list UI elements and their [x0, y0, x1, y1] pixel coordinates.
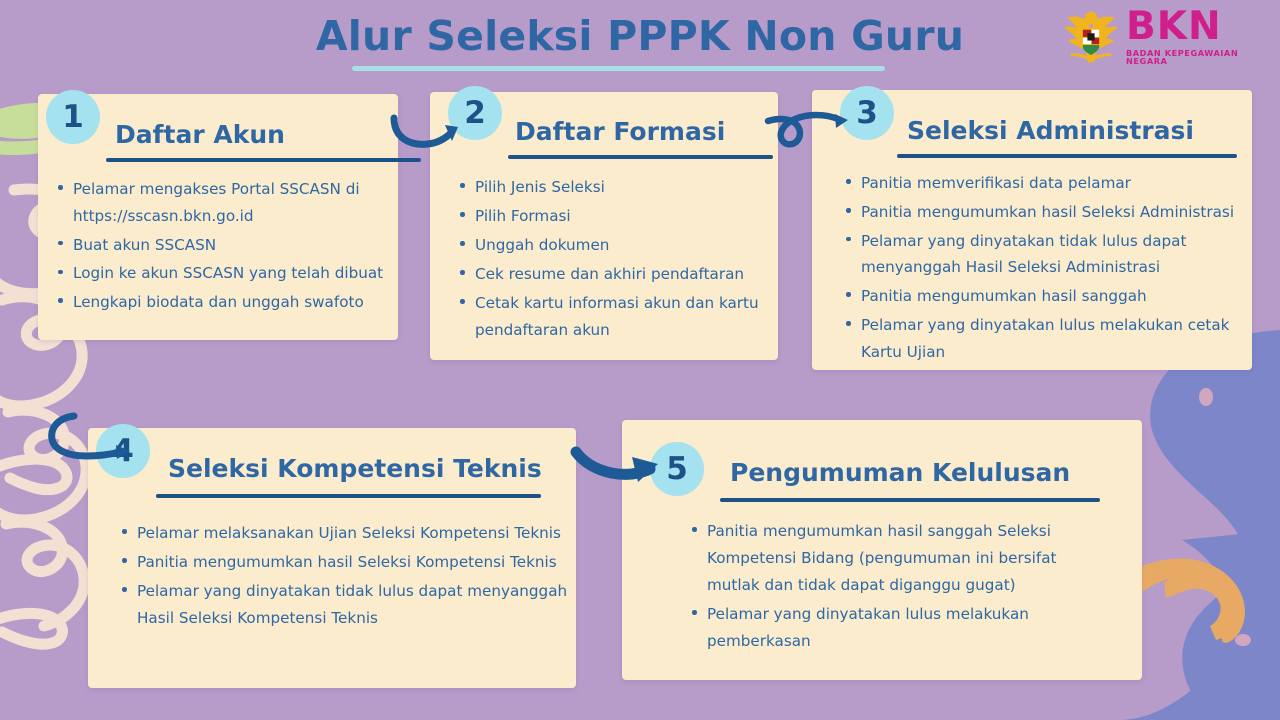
- step-card-2-header: 2 Daftar Formasi: [430, 92, 778, 150]
- step-card-5: 5 Pengumuman Kelulusan Panitia mengumumk…: [622, 420, 1142, 680]
- step-number-badge-4: 4: [96, 424, 150, 478]
- orange-ribbon-tail-decoration: [1164, 573, 1236, 640]
- list-item: Login ke akun SSCASN yang telah dibuat: [56, 260, 396, 287]
- list-item: Unggah dokumen: [458, 232, 776, 259]
- step-header-rule-4: [156, 494, 541, 498]
- step-title-3: Seleksi Administrasi: [907, 116, 1194, 145]
- logo-subtitle: BADAN KEPEGAWAIAN NEGARA: [1126, 49, 1268, 65]
- blue-blob-lower-decoration: [1122, 530, 1280, 720]
- list-item: Panitia mengumumkan hasil sanggah Seleks…: [690, 518, 1110, 599]
- step-number-badge-5: 5: [650, 442, 704, 496]
- list-item: Panitia mengumumkan hasil Seleksi Kompet…: [120, 549, 570, 576]
- pink-fleck-2-decoration: [1235, 634, 1251, 646]
- list-item: Pelamar melaksanakan Ujian Seleksi Kompe…: [120, 520, 570, 547]
- step-header-rule-1: [106, 158, 421, 162]
- step-title-2: Daftar Formasi: [515, 117, 725, 146]
- list-item: Lengkapi biodata dan unggah swafoto: [56, 289, 396, 316]
- step-card-2: 2 Daftar Formasi Pilih Jenis Seleksi Pil…: [430, 92, 778, 360]
- step-title-4: Seleksi Kompetensi Teknis: [168, 454, 542, 483]
- list-item: Buat akun SSCASN: [56, 232, 396, 259]
- garuda-pancasila-icon: [1062, 8, 1120, 64]
- list-item: Pelamar yang dinyatakan tidak lulus dapa…: [120, 578, 570, 632]
- step-number-badge-3: 3: [840, 86, 894, 140]
- pink-fleck-decoration: [1199, 388, 1213, 406]
- step-bullet-list-3: Panitia memverifikasi data pelamar Panit…: [844, 170, 1254, 367]
- step-title-1: Daftar Akun: [115, 120, 285, 149]
- step-title-5: Pengumuman Kelulusan: [730, 458, 1070, 487]
- list-item: Pelamar yang dinyatakan tidak lulus dapa…: [844, 228, 1254, 282]
- step-header-rule-2: [508, 155, 773, 159]
- step-header-rule-3: [897, 154, 1237, 158]
- step-card-1-header: 1 Daftar Akun: [38, 94, 398, 152]
- list-item: Panitia memverifikasi data pelamar: [844, 170, 1254, 197]
- title-underline: [352, 66, 885, 71]
- step-bullet-list-2: Pilih Jenis Seleksi Pilih Formasi Unggah…: [458, 174, 776, 345]
- list-item: Pilih Jenis Seleksi: [458, 174, 776, 201]
- step-card-5-header: 5 Pengumuman Kelulusan: [622, 420, 1142, 478]
- step-header-rule-5: [720, 498, 1100, 502]
- list-item: Cetak kartu informasi akun dan kartu pen…: [458, 290, 776, 344]
- step-card-3-header: 3 Seleksi Administrasi: [812, 90, 1252, 148]
- step-number-badge-1: 1: [46, 90, 100, 144]
- list-item: Pelamar yang dinyatakan lulus melakukan …: [844, 312, 1254, 366]
- list-item: Pelamar mengakses Portal SSCASN di https…: [56, 176, 396, 230]
- step-card-1: 1 Daftar Akun Pelamar mengakses Portal S…: [38, 94, 398, 340]
- step-card-3: 3 Seleksi Administrasi Panitia memverifi…: [812, 90, 1252, 370]
- list-item: Panitia mengumumkan hasil sanggah: [844, 283, 1254, 310]
- step-bullet-list-5: Panitia mengumumkan hasil sanggah Seleks…: [690, 518, 1110, 657]
- infographic-canvas: Alur Seleksi PPPK Non Guru BKN BADAN: [0, 0, 1280, 720]
- list-item: Pelamar yang dinyatakan lulus melakukan …: [690, 601, 1110, 655]
- logo-acronym: BKN: [1126, 7, 1268, 46]
- step-bullet-list-4: Pelamar melaksanakan Ujian Seleksi Kompe…: [120, 520, 570, 634]
- logo-text-block: BKN BADAN KEPEGAWAIAN NEGARA: [1126, 7, 1268, 65]
- step-card-4-header: 4 Seleksi Kompetensi Teknis: [88, 428, 576, 486]
- list-item: Panitia mengumumkan hasil Seleksi Admini…: [844, 199, 1254, 226]
- step-number-badge-2: 2: [448, 86, 502, 140]
- list-item: Pilih Formasi: [458, 203, 776, 230]
- step-bullet-list-1: Pelamar mengakses Portal SSCASN di https…: [56, 176, 396, 318]
- step-card-4: 4 Seleksi Kompetensi Teknis Pelamar mela…: [88, 428, 576, 688]
- list-item: Cek resume dan akhiri pendaftaran: [458, 261, 776, 288]
- bkn-logo: BKN BADAN KEPEGAWAIAN NEGARA: [1062, 5, 1268, 67]
- blue-blob-decoration: [1150, 330, 1280, 720]
